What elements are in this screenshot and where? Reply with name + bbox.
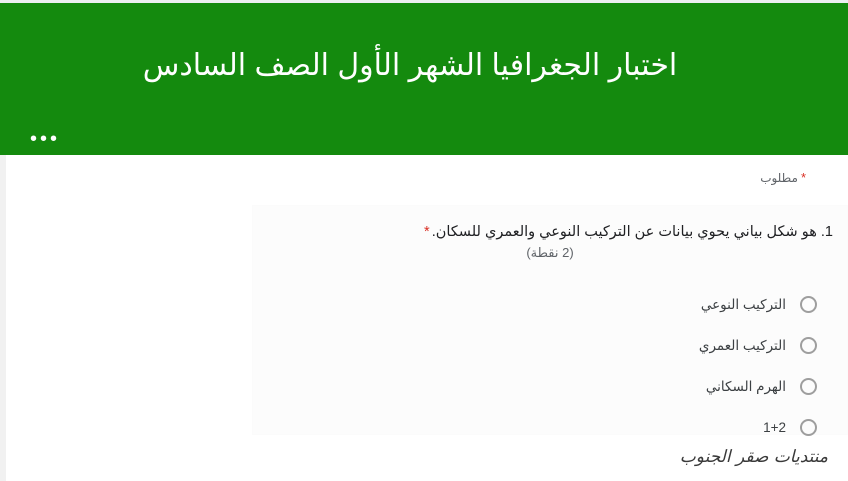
question-points: (2 نقطة) [267, 243, 833, 263]
form-header-banner: اختبار الجغرافيا الشهر الأول الصف السادس… [0, 3, 848, 155]
option-row-4[interactable]: 1+2 [253, 407, 847, 448]
question-title: 1. هو شكل بياني يحوي بيانات عن التركيب ا… [267, 222, 833, 243]
option-group: التركيب النوعي التركيب العمري الهرم السك… [253, 284, 847, 448]
option-row-1[interactable]: التركيب النوعي [253, 284, 847, 325]
watermark-text: منتديات صقر الجنوب [680, 447, 828, 467]
option-label-2: التركيب العمري [699, 338, 786, 354]
required-note-label: مطلوب [760, 171, 798, 185]
option-label-1: التركيب النوعي [701, 297, 786, 313]
option-label-4: 1+2 [763, 420, 786, 435]
option-label-3: الهرم السكاني [706, 379, 786, 395]
question-title-text: 1. هو شكل بياني يحوي بيانات عن التركيب ا… [432, 224, 833, 240]
option-row-2[interactable]: التركيب العمري [253, 325, 847, 366]
question-required-asterisk: * [424, 224, 430, 240]
option-row-3[interactable]: الهرم السكاني [253, 366, 847, 407]
form-title: اختبار الجغرافيا الشهر الأول الصف السادس [0, 47, 820, 85]
radio-button-icon[interactable] [800, 419, 817, 436]
more-options-icon[interactable]: ••• [30, 129, 60, 149]
required-note: *مطلوب [760, 170, 806, 185]
required-asterisk: * [801, 170, 806, 185]
radio-button-icon[interactable] [800, 378, 817, 395]
form-body: *مطلوب 1. هو شكل بياني يحوي بيانات عن ال… [6, 155, 848, 481]
radio-button-icon[interactable] [800, 337, 817, 354]
question-card: 1. هو شكل بياني يحوي بيانات عن التركيب ا… [252, 205, 848, 435]
radio-button-icon[interactable] [800, 296, 817, 313]
